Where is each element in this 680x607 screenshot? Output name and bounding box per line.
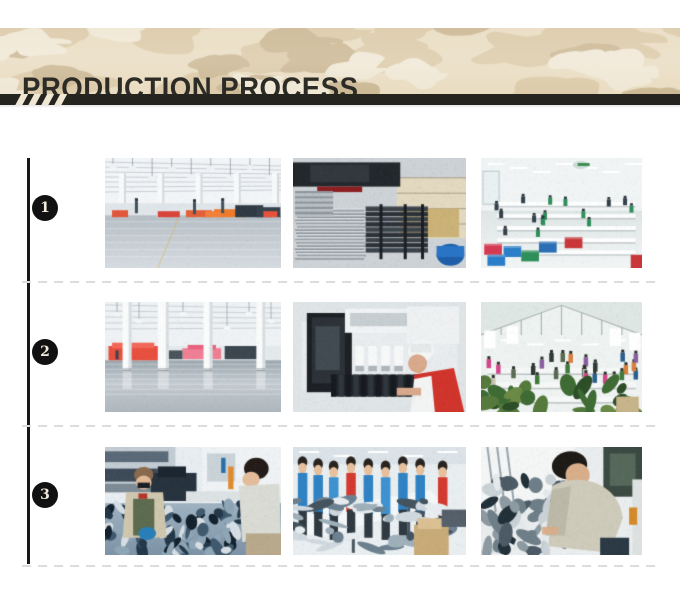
row-divider xyxy=(22,281,662,283)
step-badge-1: 1 xyxy=(32,195,58,221)
header-stripe-bar xyxy=(0,94,680,105)
timeline-rail xyxy=(27,158,30,564)
page-header-banner: PRODUCTION PROCESS xyxy=(0,28,680,94)
stripe-accent xyxy=(26,94,44,105)
step-badge-2: 2 xyxy=(32,339,58,365)
page-title: PRODUCTION PROCESS xyxy=(22,74,358,94)
row-divider xyxy=(22,565,662,567)
stripe-accent xyxy=(13,94,31,105)
photo-raw-material-tubes-and-parts xyxy=(293,158,466,268)
photo-worker-operating-machine xyxy=(293,302,466,412)
stripe-accent xyxy=(39,94,57,105)
photo-warehouse-floor-overview xyxy=(105,158,281,268)
step-badge-3: 3 xyxy=(32,482,58,508)
photo-large-sewing-hall xyxy=(481,302,642,412)
photo-sewing-workshop-overview xyxy=(481,158,642,268)
header-shadow xyxy=(0,105,680,108)
stripe-accent xyxy=(52,94,70,105)
row-divider xyxy=(22,425,662,427)
photo-fabric-cutting-station xyxy=(105,447,281,555)
photo-worker-inspecting-material xyxy=(481,447,642,555)
photo-assembly-line-workers xyxy=(293,447,466,555)
photo-warehouse-with-red-bundles xyxy=(105,302,281,412)
